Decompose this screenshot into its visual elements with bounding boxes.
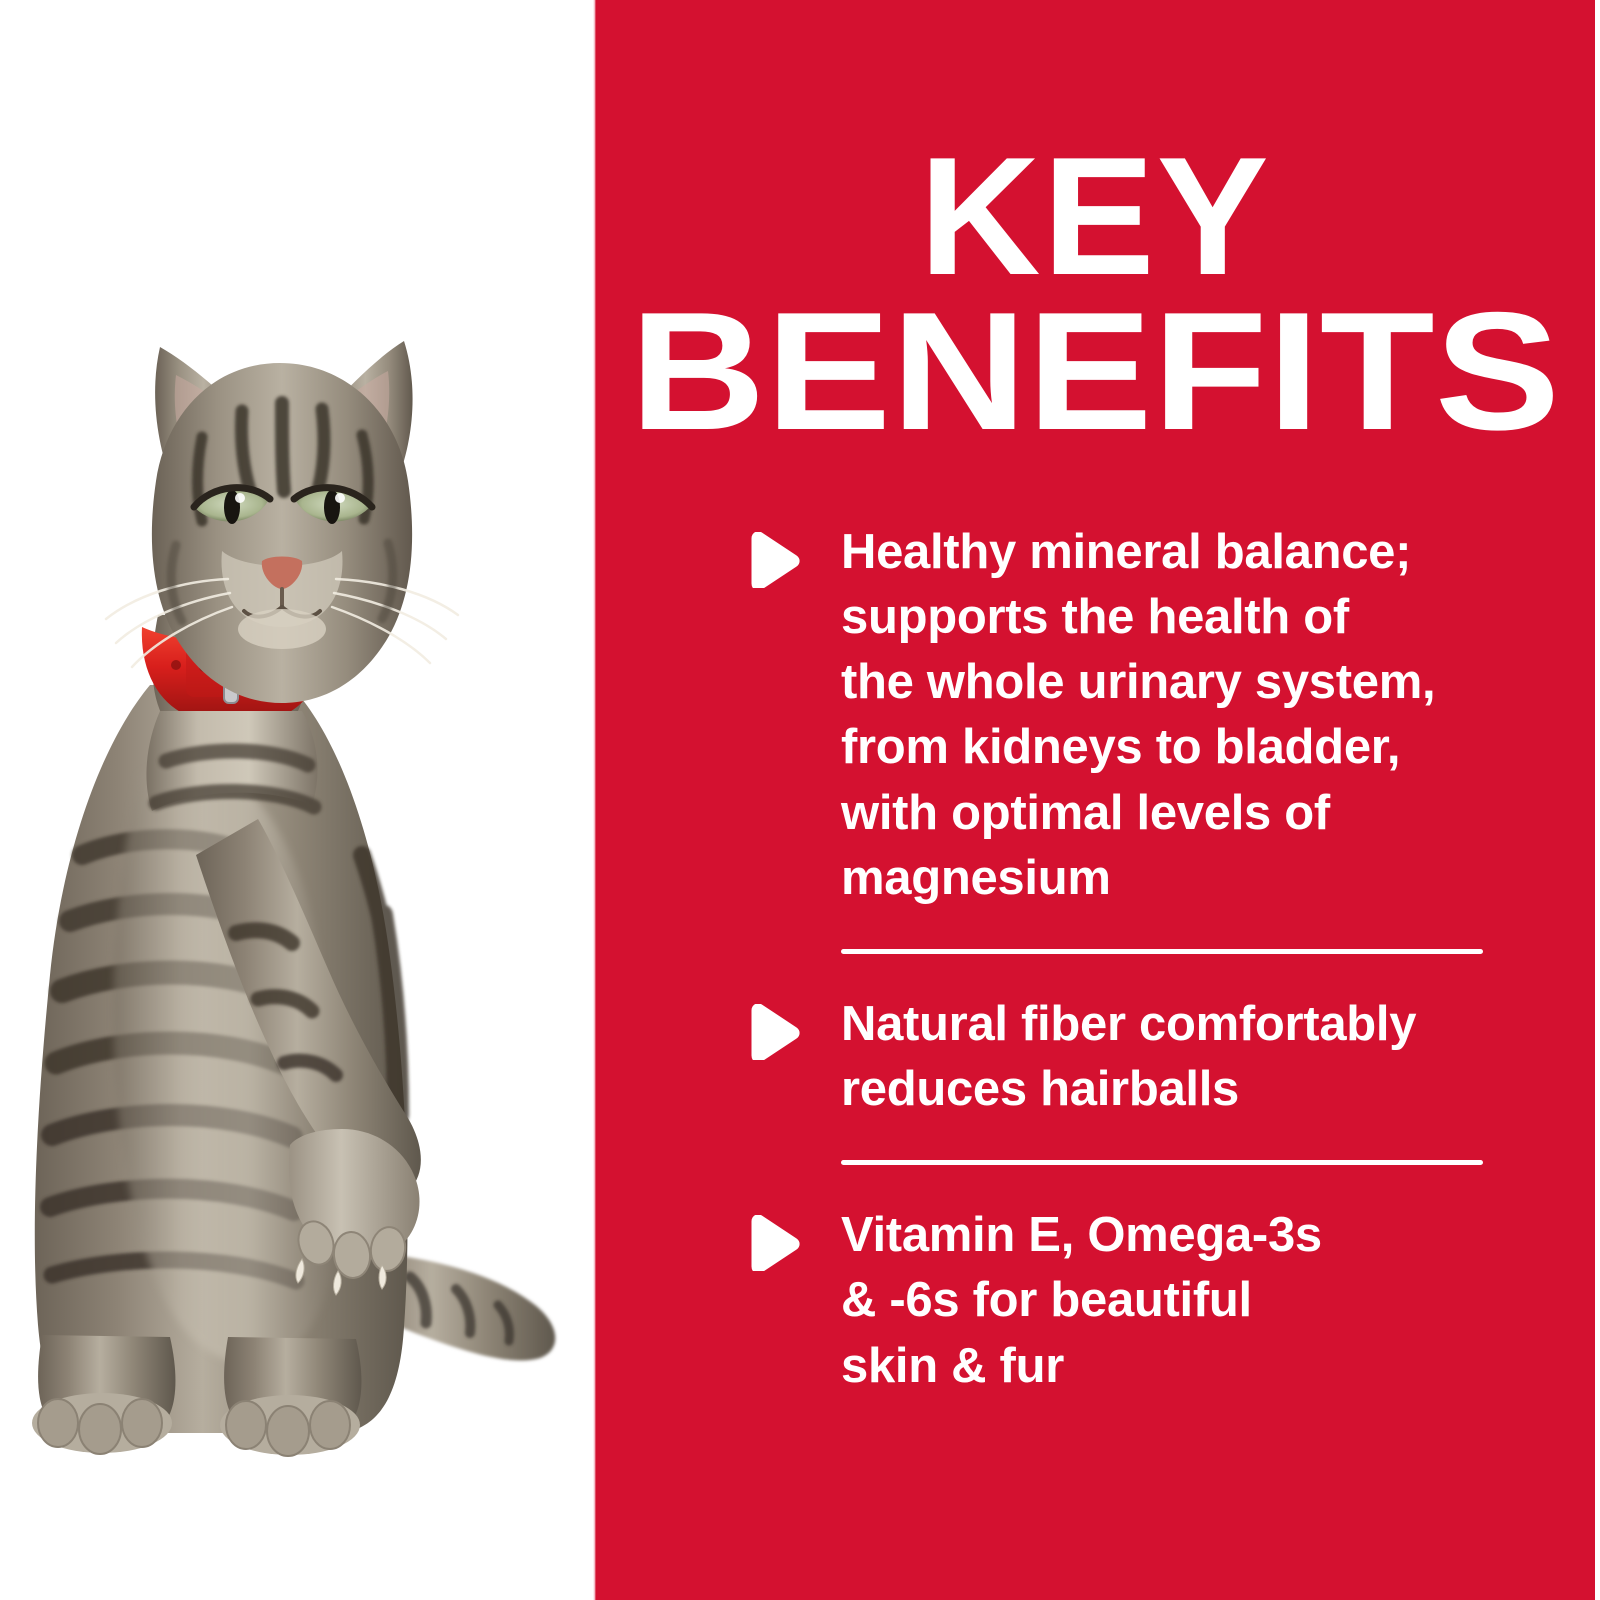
benefit-text-1: Healthy mineral balance; supports the he… — [841, 520, 1545, 911]
benefit-divider-2 — [841, 1160, 1483, 1165]
benefits-red-panel: KEY BENEFITS Healthy mineral balance; su… — [595, 0, 1595, 1600]
benefit-item-3: Vitamin E, Omega-3s & -6s for beautiful … — [745, 1203, 1545, 1398]
tabby-cat-image — [0, 215, 590, 1475]
benefit-text-2: Natural fiber comfortably reduces hairba… — [841, 992, 1545, 1122]
benefit-item-1: Healthy mineral balance; supports the he… — [745, 520, 1545, 911]
benefit-item-2: Natural fiber comfortably reduces hairba… — [745, 992, 1545, 1122]
benefit-text-3: Vitamin E, Omega-3s & -6s for beautiful … — [841, 1203, 1545, 1398]
page-title: KEY BENEFITS — [595, 139, 1595, 448]
triangle-right-icon — [745, 532, 801, 588]
benefit-divider-1 — [841, 949, 1483, 954]
triangle-right-icon — [745, 1004, 801, 1060]
key-benefits-product-panel: KEY BENEFITS Healthy mineral balance; su… — [0, 0, 1600, 1600]
page-title-line-1: KEY — [595, 139, 1595, 294]
cat-photo-panel — [0, 0, 595, 1600]
triangle-right-icon — [745, 1215, 801, 1271]
benefit-list: Healthy mineral balance; supports the he… — [745, 520, 1545, 1399]
panel-seam — [593, 0, 596, 1600]
right-edge-strip — [1595, 0, 1600, 1600]
page-title-line-2: BENEFITS — [535, 294, 1600, 449]
